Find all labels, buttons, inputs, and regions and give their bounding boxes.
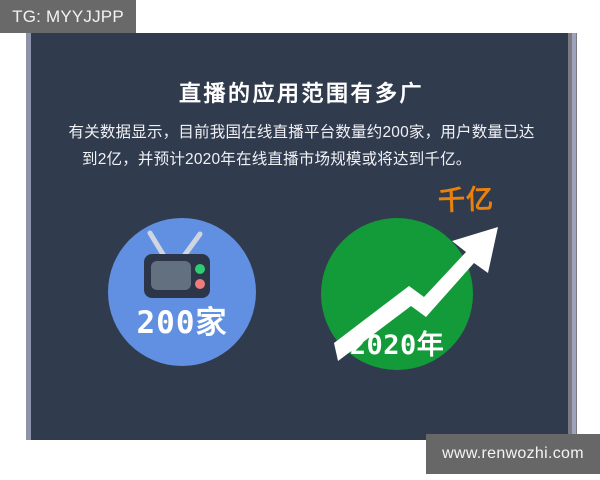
trillion-callout-label: 千亿: [437, 177, 494, 218]
panel-right-inner-strip: [572, 33, 576, 440]
statistics-visual-group: 200家 2020年 千亿: [26, 33, 577, 440]
site-watermark: www.renwozhi.com: [426, 434, 600, 474]
infographic-panel: 直播的应用范围有多广 有关数据显示，目前我国在线直播平台数量约200家，用户数量…: [26, 33, 577, 440]
telegram-channel-badge: TG: MYYJJPP: [0, 0, 136, 33]
blue-circle-label: 200家: [108, 297, 256, 342]
panel-left-edge-strip: [26, 33, 31, 440]
green-circle-label: 2020年: [321, 323, 473, 362]
television-icon: [138, 228, 226, 298]
infographic-canvas: 直播的应用范围有多广 有关数据显示，目前我国在线直播平台数量约200家，用户数量…: [0, 0, 600, 480]
